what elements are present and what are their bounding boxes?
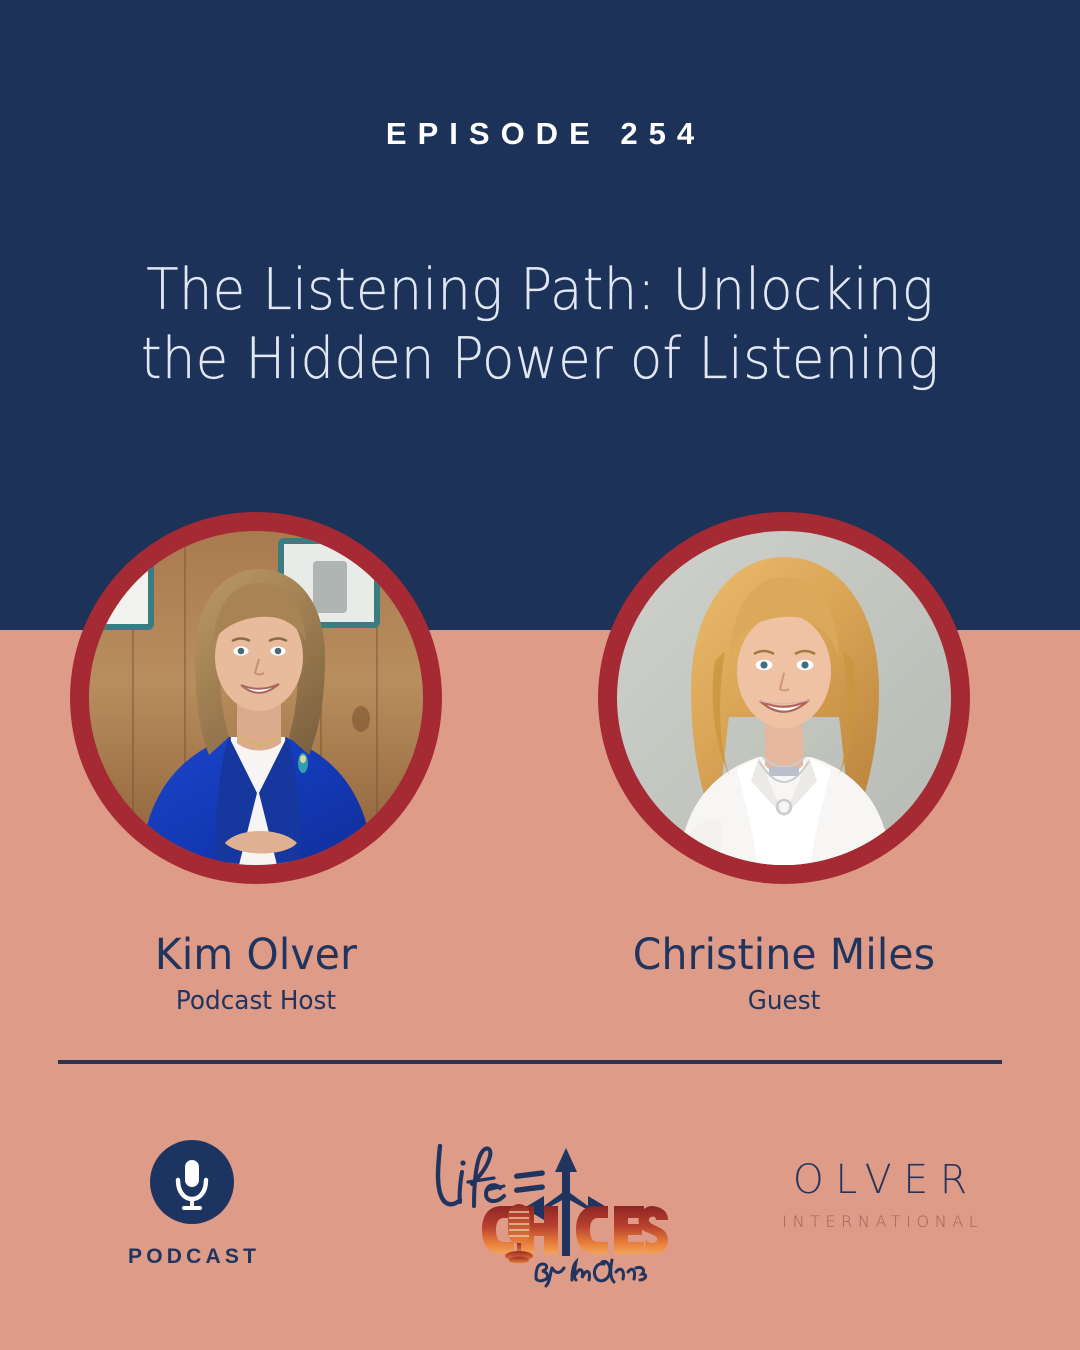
portrait-clip-host <box>89 531 423 865</box>
choices-logo-artwork <box>424 1132 672 1288</box>
olver-wordmark: OLVER <box>762 1156 997 1204</box>
person-name-host: Kim Olver <box>79 930 432 980</box>
person-card-host: Kim Olver Podcast Host <box>70 512 442 1017</box>
person-card-guest: Christine Miles Guest <box>598 512 970 1017</box>
episode-title: The Listening Path: Unlocking the Hidden… <box>94 256 987 394</box>
footer-logo-row: PODCAST <box>0 1128 1080 1308</box>
person-role-host: Podcast Host <box>79 985 432 1017</box>
portrait-photo-host <box>89 531 423 865</box>
three-way-arrow-signpost-icon <box>524 1148 608 1256</box>
podcast-icon-circle <box>150 1140 234 1224</box>
episode-title-line-2: the Hidden Power of Listening <box>94 325 987 394</box>
portrait-ring-guest <box>598 512 970 884</box>
portrait-ring-host <box>70 512 442 884</box>
life-equals-choices-logo <box>424 1132 672 1288</box>
portrait-clip-guest <box>617 531 951 865</box>
choices-logo-script-life <box>438 1146 504 1206</box>
olver-international-logo: OLVER INTERNATIONAL <box>760 1156 1000 1232</box>
microphone-icon <box>505 1204 533 1263</box>
episode-title-line-1: The Listening Path: Unlocking <box>94 256 987 325</box>
episode-number-label: EPISODE 254 <box>0 116 1080 152</box>
podcast-badge: PODCAST <box>106 1140 278 1269</box>
portrait-photo-guest <box>617 531 951 865</box>
olver-tagline: INTERNATIONAL <box>760 1212 1000 1232</box>
microphone-icon <box>150 1140 234 1224</box>
podcast-label: PODCAST <box>106 1245 278 1269</box>
choices-logo-equals-sign <box>514 1170 545 1193</box>
horizontal-divider <box>58 1060 1002 1064</box>
person-role-guest: Guest <box>607 985 960 1017</box>
person-name-guest: Christine Miles <box>607 930 960 980</box>
choices-logo-byline <box>536 1260 646 1286</box>
